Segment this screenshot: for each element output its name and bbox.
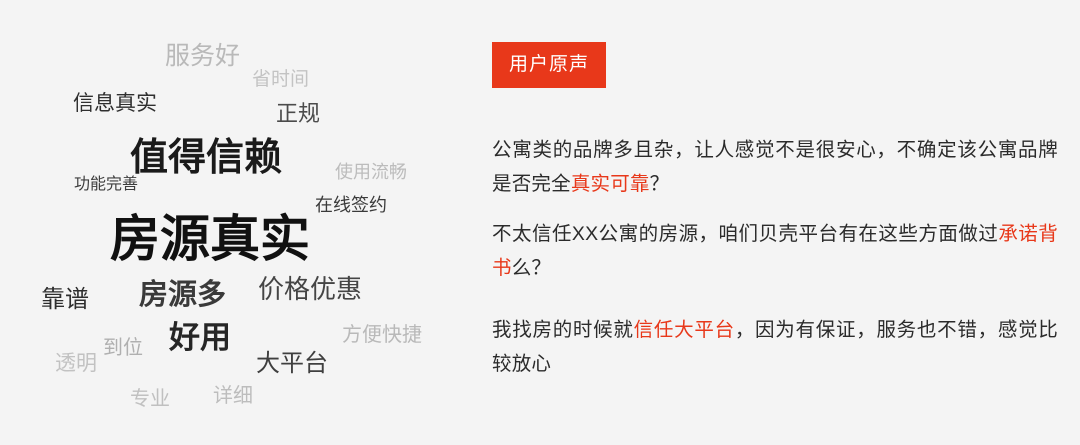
- word-cloud-term: 方便快捷: [342, 325, 422, 345]
- quote-highlight-text: 真实可靠: [571, 173, 650, 195]
- word-cloud-term: 信息真实: [73, 93, 157, 114]
- word-cloud-term: 房源多: [139, 281, 226, 310]
- word-cloud-term: 到位: [103, 338, 143, 358]
- word-cloud-term: 详细: [213, 386, 253, 406]
- word-cloud-term: 服务好: [165, 44, 240, 69]
- word-cloud-term: 透明: [55, 353, 97, 374]
- word-cloud-term: 大平台: [256, 352, 328, 376]
- word-cloud-term: 使用流畅: [335, 163, 407, 181]
- user-quote-item: 公寓类的品牌多且杂，让人感觉不是很安心，不确定该公寓品牌是否完全真实可靠？: [492, 133, 1058, 201]
- word-cloud-term: 房源真实: [110, 214, 310, 264]
- word-cloud-term: 省时间: [252, 70, 309, 89]
- quote-plain-text: ？: [650, 173, 670, 195]
- quote-plain-text: 不太信任XX公寓的房源，咱们贝壳平台有在这些方面做过: [492, 223, 998, 245]
- quote-plain-text: 我找房的时候就: [492, 319, 634, 341]
- word-cloud-term: 功能完善: [74, 177, 138, 193]
- word-cloud-term: 靠谱: [41, 288, 89, 312]
- word-cloud-term: 值得信赖: [130, 139, 282, 177]
- user-quote-item: 我找房的时候就信任大平台，因为有保证，服务也不错，感觉比较放心: [492, 313, 1058, 381]
- section-badge-user-voice: 用户原声: [492, 42, 606, 88]
- user-quote-item: 不太信任XX公寓的房源，咱们贝壳平台有在这些方面做过承诺背书么？: [492, 217, 1058, 285]
- word-cloud-term: 在线签约: [315, 196, 387, 214]
- page-root: 服务好省时间信息真实正规值得信赖功能完善使用流畅在线签约房源真实价格优惠房源多靠…: [0, 0, 1080, 445]
- word-cloud-term: 好用: [169, 322, 231, 353]
- quote-highlight-text: 信任大平台: [634, 319, 735, 341]
- word-cloud-term: 价格优惠: [258, 276, 362, 302]
- quote-plain-text: 么？: [512, 257, 551, 279]
- word-cloud-term: 专业: [130, 389, 170, 409]
- word-cloud-term: 正规: [276, 103, 320, 125]
- user-feedback-word-cloud: 服务好省时间信息真实正规值得信赖功能完善使用流畅在线签约房源真实价格优惠房源多靠…: [0, 0, 460, 445]
- user-quotes-panel: 用户原声 公寓类的品牌多且杂，让人感觉不是很安心，不确定该公寓品牌是否完全真实可…: [460, 0, 1080, 445]
